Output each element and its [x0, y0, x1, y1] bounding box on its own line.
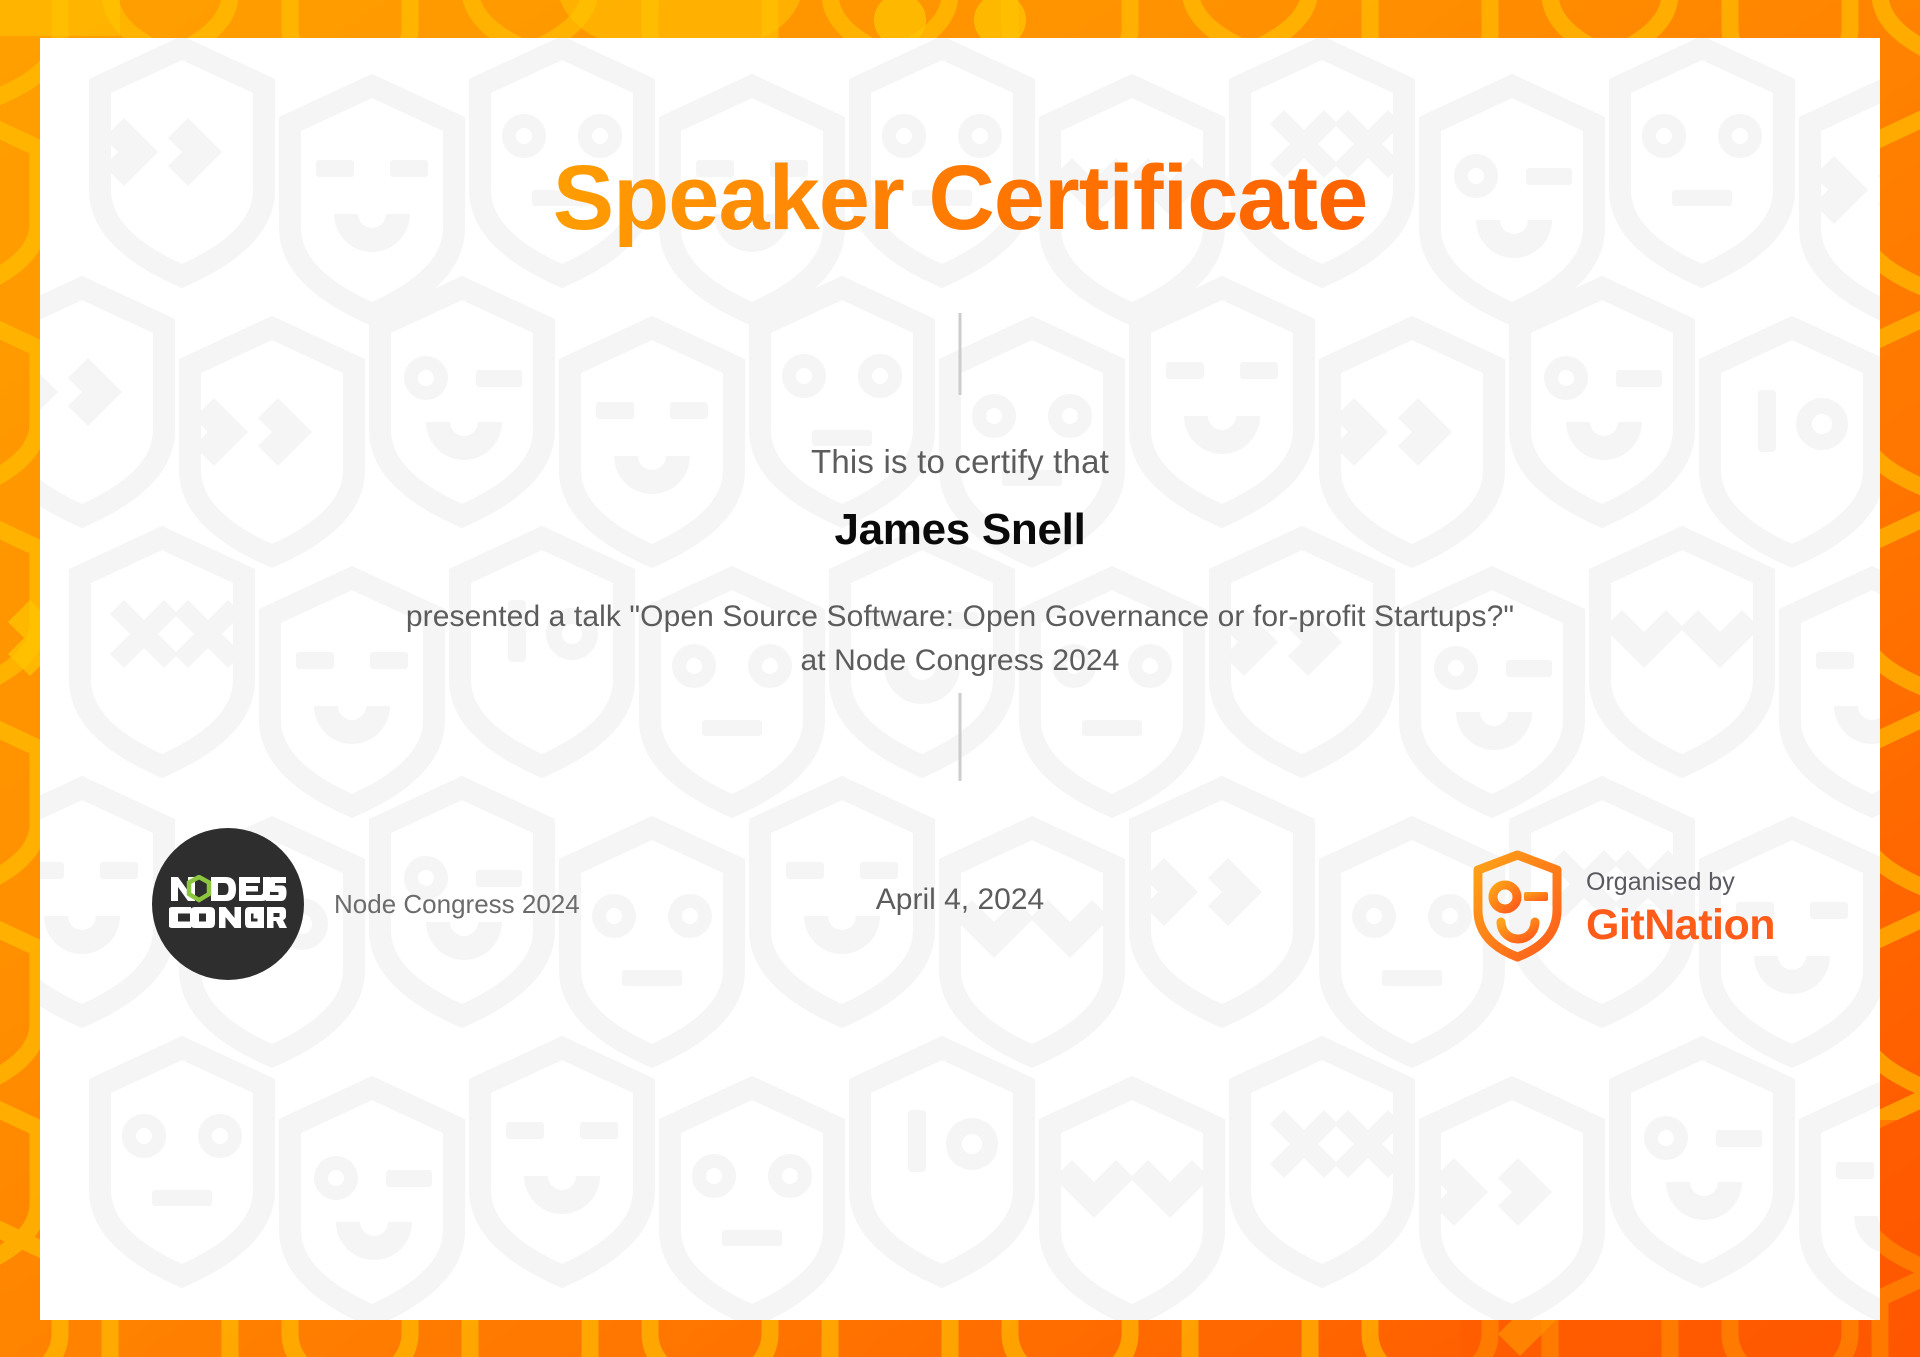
nodejs-congress-logo — [152, 828, 304, 980]
divider-bottom — [959, 693, 962, 781]
divider-top — [959, 313, 962, 395]
certify-line: This is to certify that — [40, 443, 1880, 481]
organiser-block: Organised by GitNation — [1471, 850, 1775, 967]
event-line: at Node Congress 2024 — [40, 639, 1880, 683]
event-name-label: Node Congress 2024 — [334, 889, 580, 920]
organiser-text: Organised by GitNation — [1586, 870, 1775, 947]
certificate-card: Speaker Certificate This is to certify t… — [40, 38, 1880, 1320]
certificate-body: This is to certify that James Snell pres… — [40, 443, 1880, 682]
footer-event-block: Node Congress 2024 — [152, 828, 580, 980]
recipient-name: James Snell — [40, 505, 1880, 555]
talk-title-line: presented a talk "Open Source Software: … — [40, 595, 1880, 639]
page-title: Speaker Certificate — [553, 150, 1368, 247]
speaker-certificate: Speaker Certificate This is to certify t… — [0, 0, 1920, 1357]
certificate-date: April 4, 2024 — [876, 883, 1044, 917]
organised-by-label: Organised by — [1586, 870, 1775, 895]
organiser-name: GitNation — [1586, 904, 1775, 947]
gitnation-shield-icon — [1471, 850, 1564, 967]
certificate-footer: Node Congress 2024 April 4, 2024 — [40, 828, 1880, 1028]
